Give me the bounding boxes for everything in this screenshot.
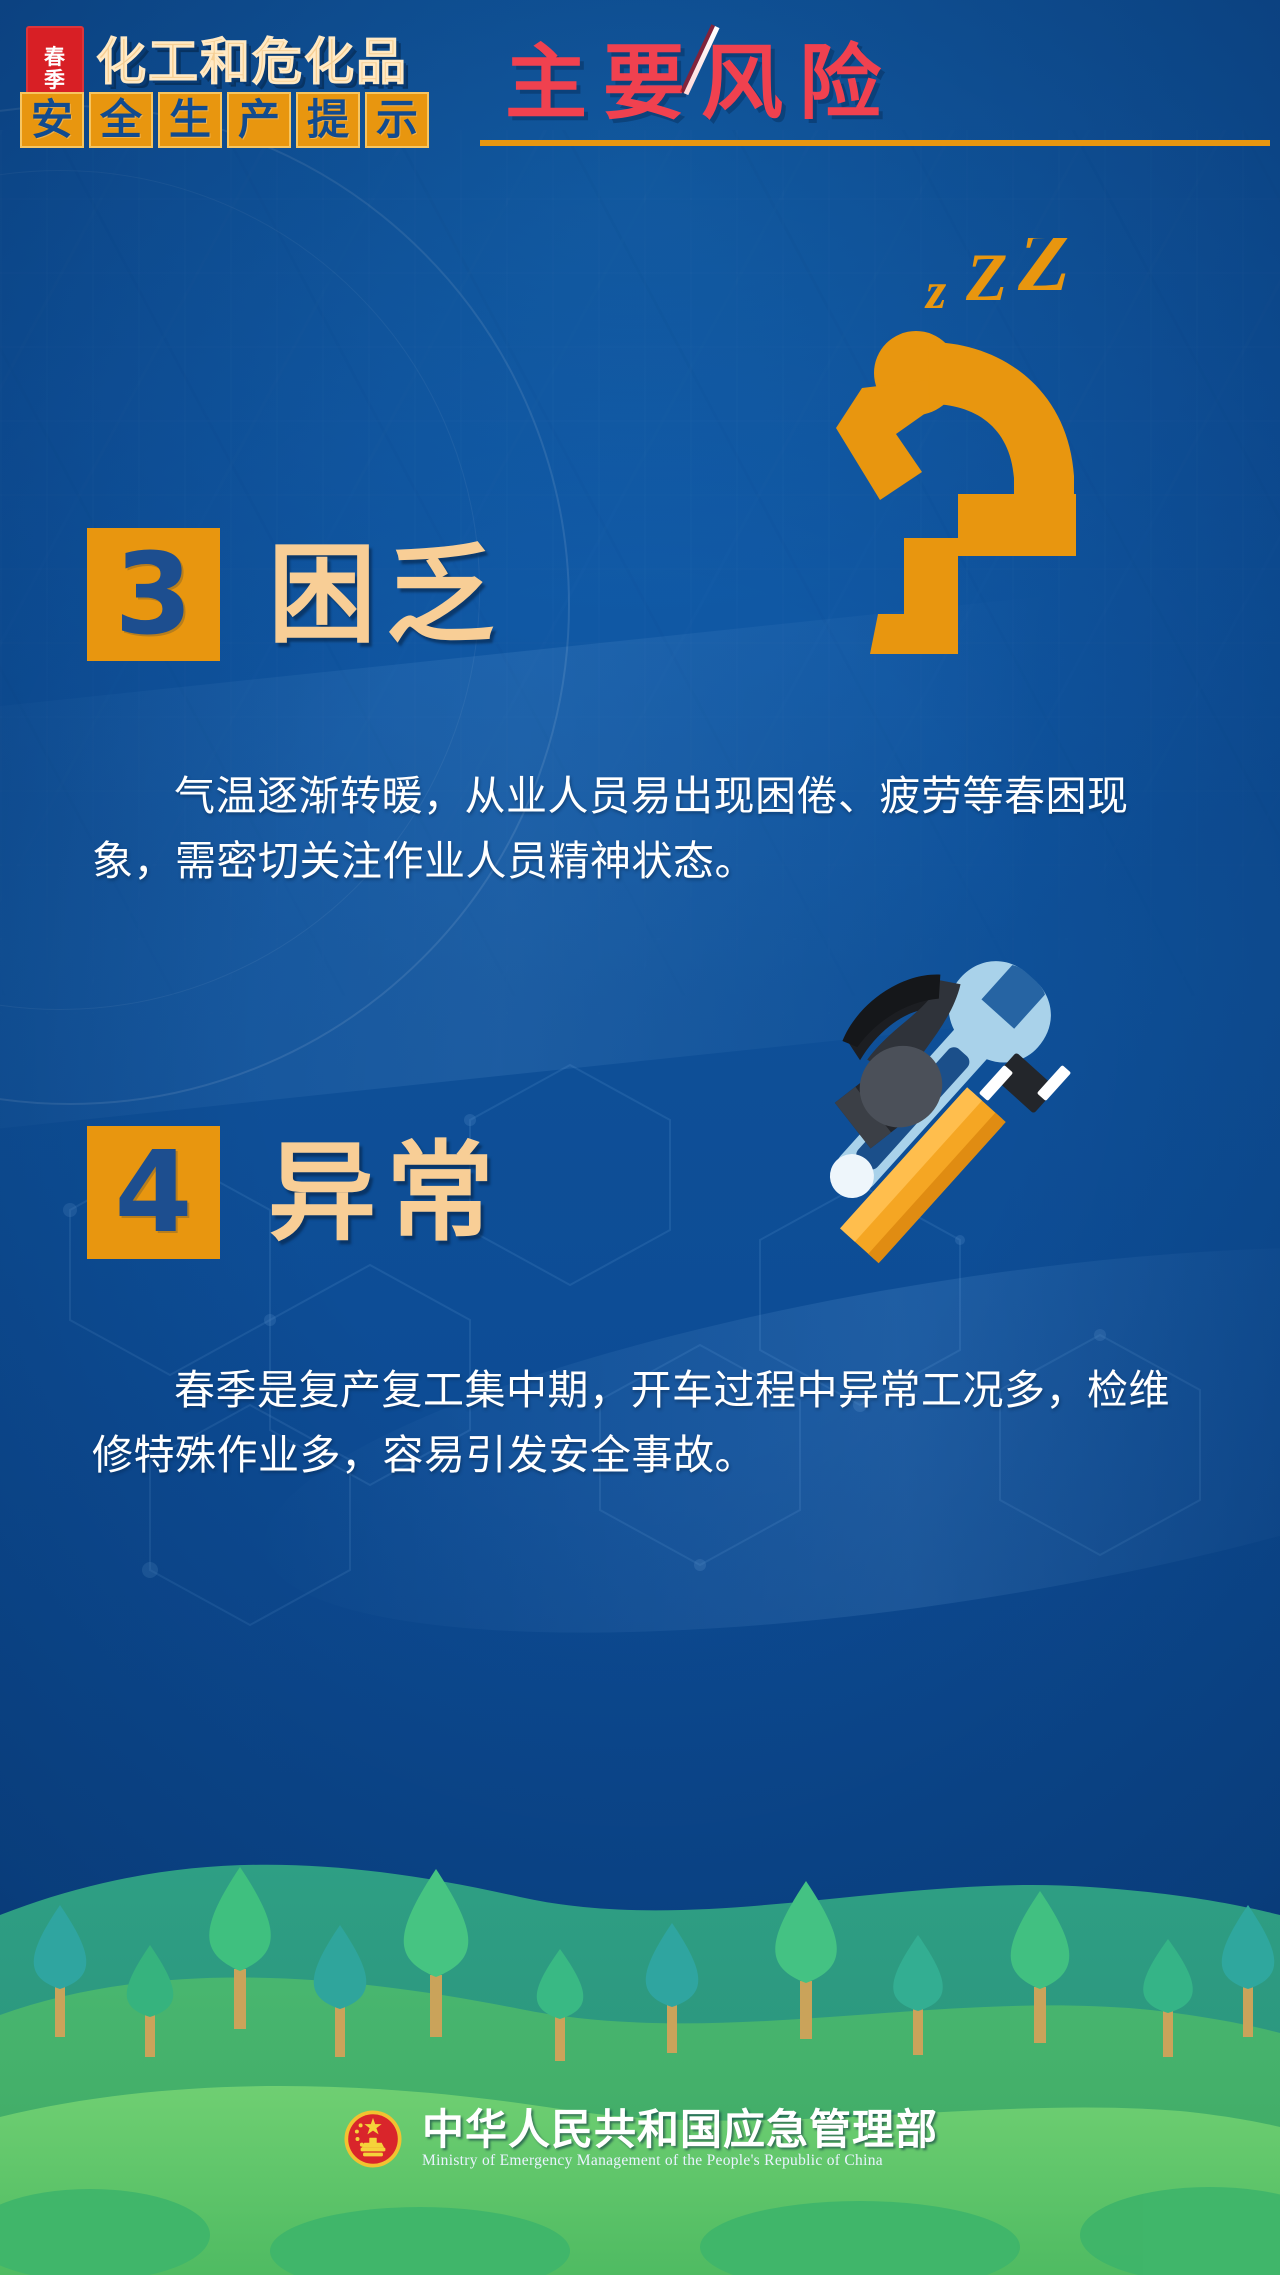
seal-char-1: 春 bbox=[44, 47, 66, 70]
poster-root: 春 季 化工和危化品 安 全 生 产 提 示 主要风险 3 困乏 气温逐渐转暖，… bbox=[0, 0, 1280, 2275]
page-title: 主要风险 bbox=[505, 16, 897, 135]
footer-text-block: 中华人民共和国应急管理部 Ministry of Emergency Manag… bbox=[422, 2109, 938, 2169]
svg-text:z: z bbox=[924, 263, 947, 320]
header-line2-char: 示 bbox=[365, 92, 429, 148]
footer-organization-cn: 中华人民共和国应急管理部 bbox=[422, 2109, 938, 2151]
title-underline bbox=[480, 140, 1270, 146]
section-3-number-badge: 3 bbox=[87, 528, 220, 661]
china-national-emblem-icon bbox=[342, 2108, 404, 2170]
poster-header: 春 季 化工和危化品 安 全 生 产 提 示 主要风险 bbox=[0, 0, 1280, 168]
seal-char-2: 季 bbox=[44, 70, 66, 93]
header-line-2: 安 全 生 产 提 示 bbox=[20, 92, 429, 148]
header-line2-char: 全 bbox=[89, 92, 153, 148]
section-4-body-text: 春季是复产复工集中期，开车过程中异常工况多，检维修特殊作业多，容易引发安全事故。 bbox=[0, 1358, 1280, 1488]
svg-text:Z: Z bbox=[965, 239, 1008, 315]
section-4-title: 异常 bbox=[268, 1139, 504, 1247]
header-line2-char: 生 bbox=[158, 92, 222, 148]
header-line2-char: 产 bbox=[227, 92, 291, 148]
footer-branding: 中华人民共和国应急管理部 Ministry of Emergency Manag… bbox=[0, 2108, 1280, 2170]
section-4-number-badge: 4 bbox=[87, 1126, 220, 1259]
header-line-1: 化工和危化品 bbox=[96, 22, 408, 94]
footer-organization-en: Ministry of Emergency Management of the … bbox=[422, 2153, 938, 2169]
hammer-and-wrench-icon bbox=[762, 958, 1102, 1288]
section-3-body-text: 气温逐渐转暖，从业人员易出现困倦、疲劳等春困现象，需密切关注作业人员精神状态。 bbox=[0, 764, 1280, 894]
header-line2-char: 提 bbox=[296, 92, 360, 148]
svg-text:Z: Z bbox=[1017, 238, 1071, 309]
bottom-landscape bbox=[0, 1765, 1280, 2275]
header-line2-char: 安 bbox=[20, 92, 84, 148]
section-3-title: 困乏 bbox=[268, 541, 504, 649]
sleeping-person-zzz-icon: z Z Z bbox=[818, 238, 1178, 658]
